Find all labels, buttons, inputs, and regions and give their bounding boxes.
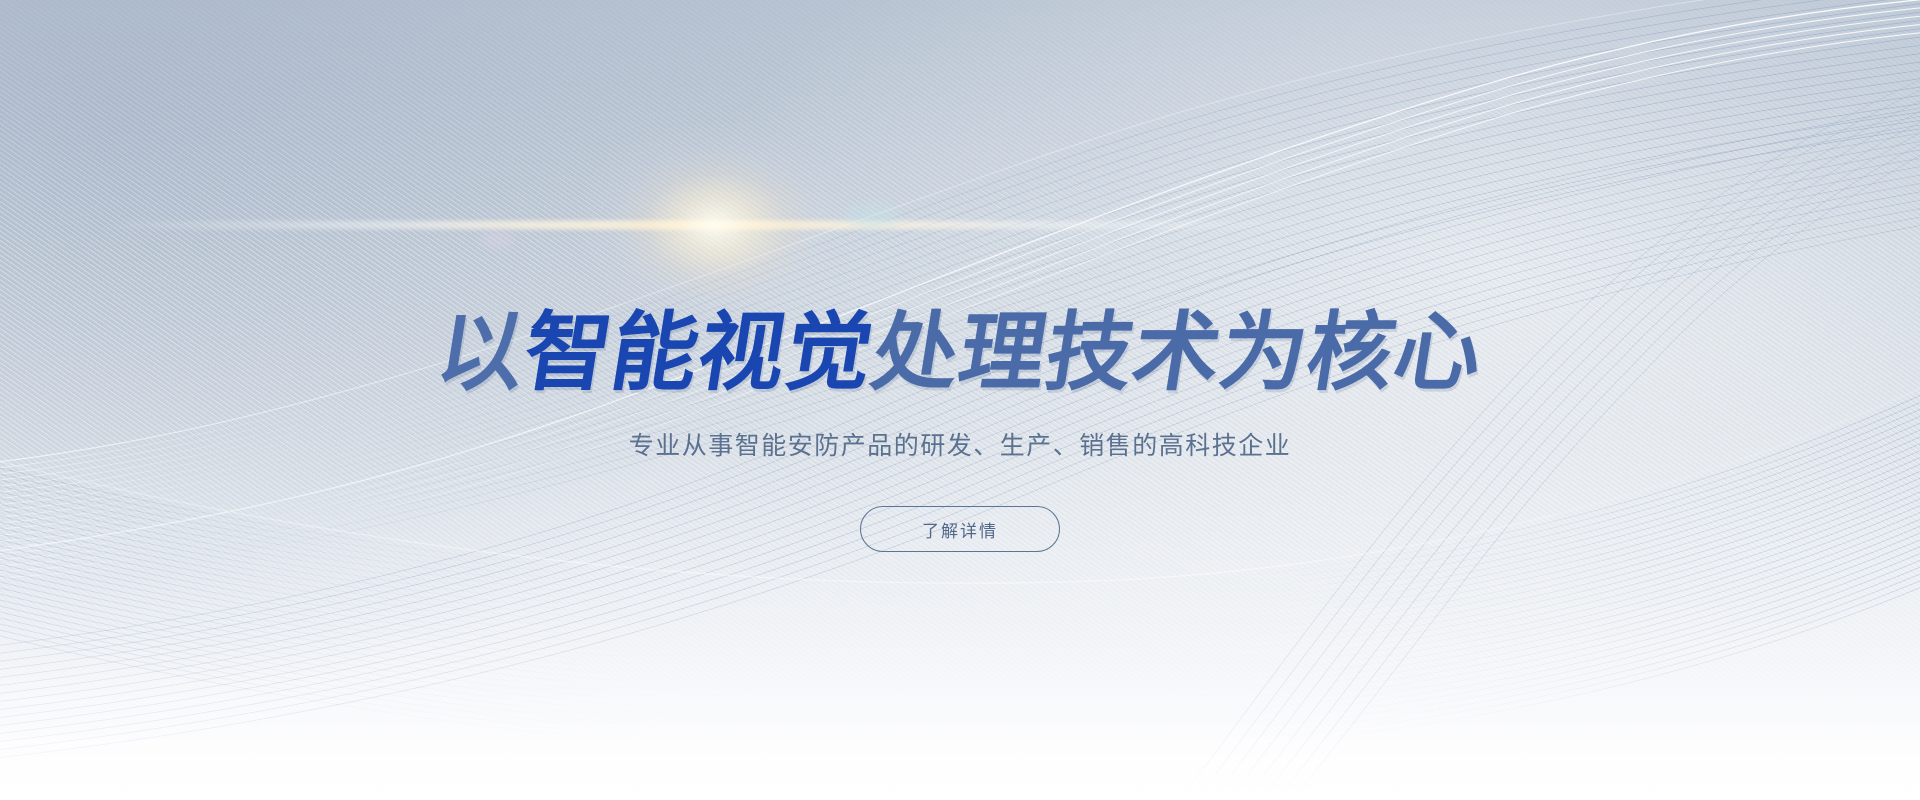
hero-banner: 以智能视觉处理技术为核心 专业从事智能安防产品的研发、生产、销售的高科技企业 了…	[0, 0, 1920, 800]
banner-content: 以智能视觉处理技术为核心 专业从事智能安防产品的研发、生产、销售的高科技企业 了…	[0, 0, 1920, 800]
headline-segment-3: 处理技术为核心	[865, 303, 1490, 403]
learn-more-button[interactable]: 了解详情	[860, 506, 1060, 552]
headline-segment-1: 以	[430, 303, 533, 403]
headline: 以智能视觉处理技术为核心	[0, 310, 1920, 396]
subtitle: 专业从事智能安防产品的研发、生产、销售的高科技企业	[0, 428, 1920, 463]
cta-container: 了解详情	[0, 506, 1920, 552]
headline-segment-2: 智能视觉	[517, 303, 881, 403]
